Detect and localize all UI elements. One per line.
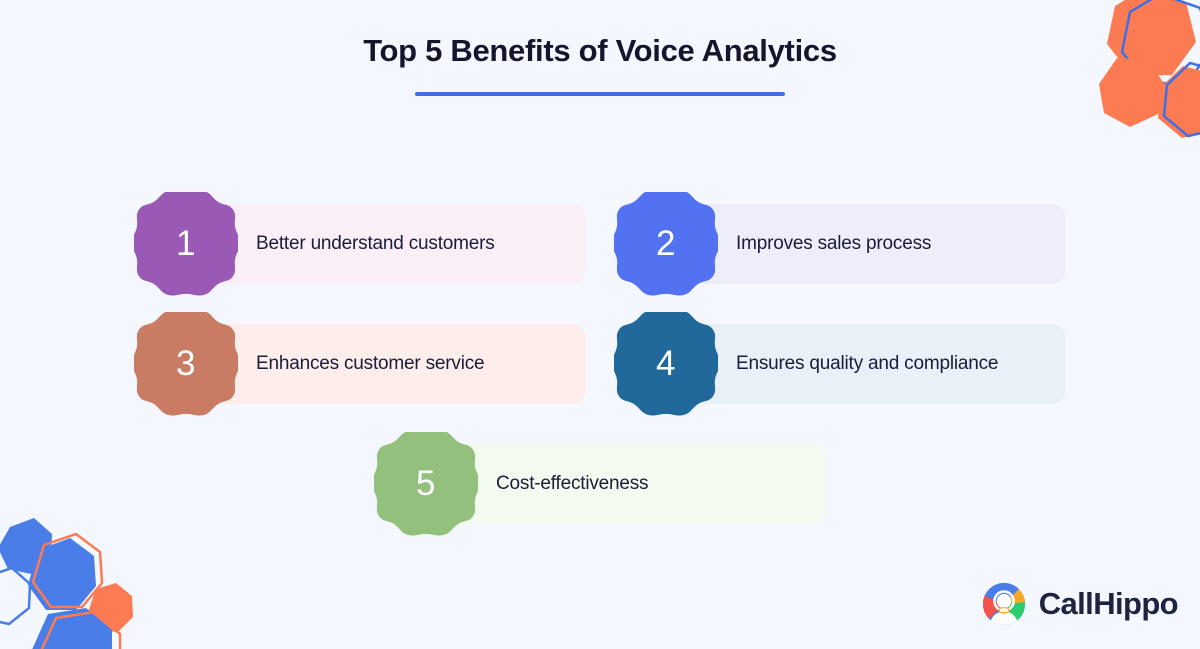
benefits-row-1: 1 Better understand customers 2 Improves… [0,196,1200,292]
title-underline [415,92,785,96]
benefit-label-2: Improves sales process [736,233,931,255]
benefit-label-4: Ensures quality and compliance [736,353,998,375]
benefit-label-1: Better understand customers [256,233,495,255]
benefit-card-3[interactable]: 3 Enhances customer service [134,316,586,412]
brand-logo[interactable]: CallHippo [981,581,1178,627]
benefit-badge-3: 3 [134,312,238,416]
benefit-label-3: Enhances customer service [256,353,484,375]
deco-orange-heptagon-4 [88,583,133,632]
page-title: Top 5 Benefits of Voice Analytics [0,32,1200,69]
benefit-number-2: 2 [614,192,718,296]
benefits-row-2: 3 Enhances customer service 4 Ensures qu… [0,316,1200,412]
benefit-badge-2: 2 [614,192,718,296]
benefit-number-1: 1 [134,192,238,296]
callhippo-logo-icon [981,581,1027,627]
benefit-label-5: Cost-effectiveness [496,473,648,495]
brand-name: CallHippo [1039,586,1178,622]
benefit-number-5: 5 [374,432,478,536]
benefit-card-1[interactable]: 1 Better understand customers [134,196,586,292]
benefit-badge-1: 1 [134,192,238,296]
benefit-badge-4: 4 [614,312,718,416]
benefits-row-3: 5 Cost-effectiveness [0,436,1200,532]
benefit-card-2[interactable]: 2 Improves sales process [614,196,1066,292]
benefits-list: 1 Better understand customers 2 Improves… [0,196,1200,556]
header: Top 5 Benefits of Voice Analytics [0,32,1200,96]
deco-orange-outline-heptagon-2 [38,612,120,649]
deco-blue-outline-heptagon-3 [0,568,30,624]
benefit-number-4: 4 [614,312,718,416]
benefit-card-5[interactable]: 5 Cost-effectiveness [374,436,826,532]
deco-blue-heptagon-3 [30,608,112,649]
benefit-card-4[interactable]: 4 Ensures quality and compliance [614,316,1066,412]
benefit-badge-5: 5 [374,432,478,536]
benefit-number-3: 3 [134,312,238,416]
